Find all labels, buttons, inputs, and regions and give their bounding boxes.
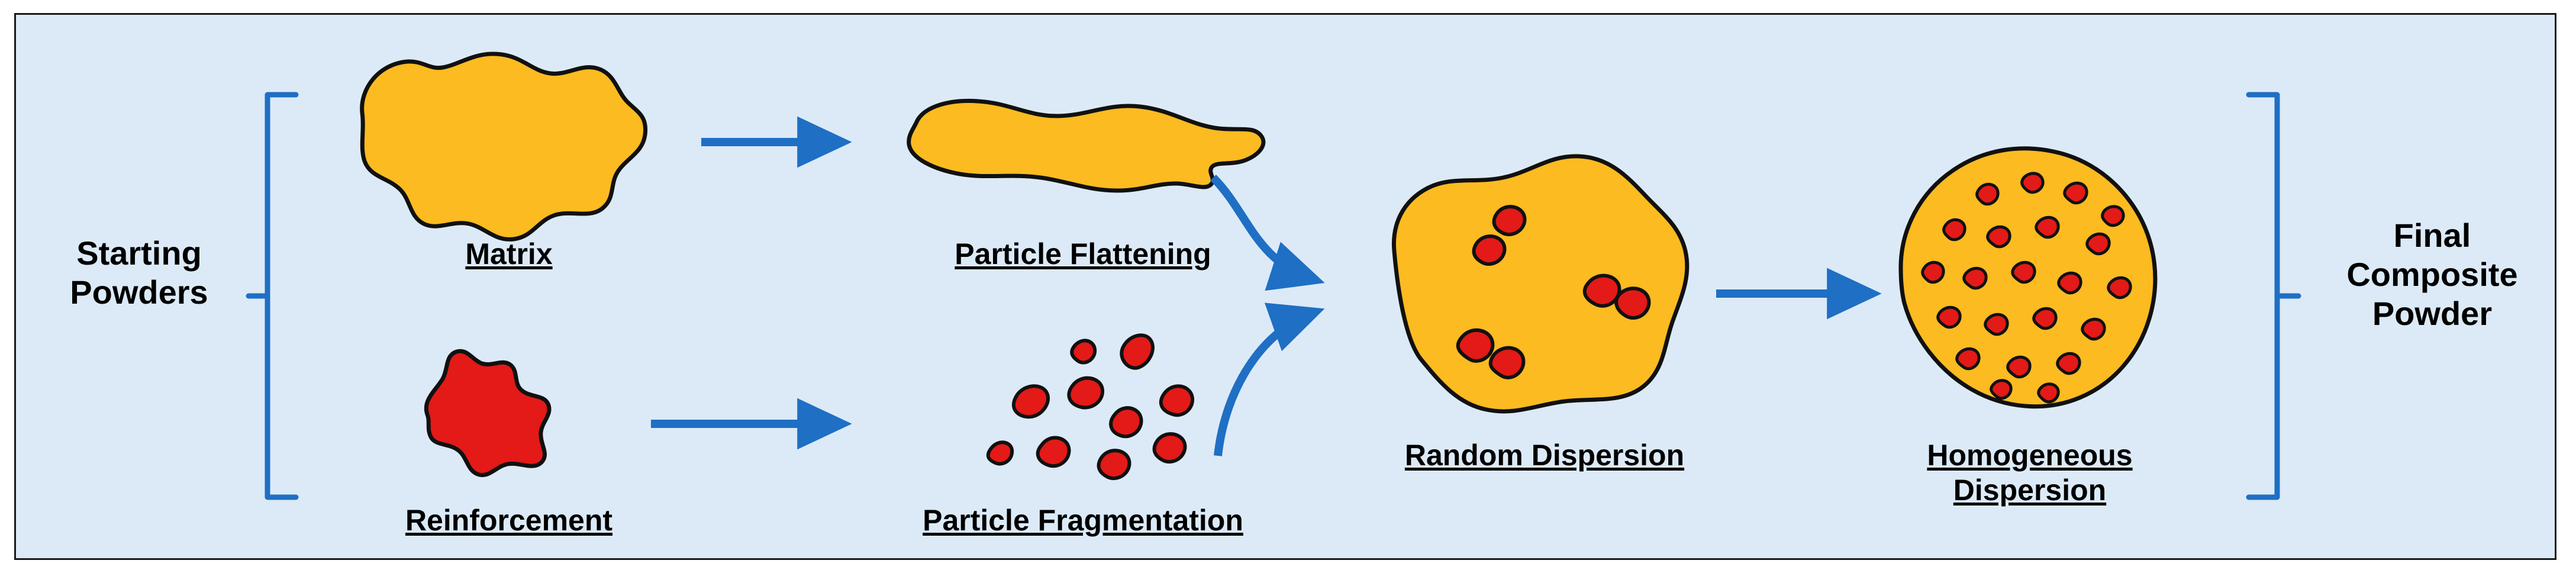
label-particle-flattening: Particle Flattening xyxy=(888,237,1278,272)
arrow-fragmentation-to-dispersion xyxy=(1218,313,1314,456)
label-particle-fragmentation: Particle Fragmentation xyxy=(858,503,1308,538)
fragmented-reinforcement-shapes xyxy=(988,335,1192,478)
label-random-dispersion: Random Dispersion xyxy=(1379,438,1710,473)
label-starting-powders: Starting Powders xyxy=(36,234,243,312)
reinforcement-particle-shape xyxy=(426,351,549,475)
diagram-canvas: Starting Powders Matrix Reinforcement Pa… xyxy=(0,0,2576,586)
label-reinforcement: Reinforcement xyxy=(337,503,681,538)
bracket-starting-powders xyxy=(249,95,296,497)
bracket-final-composite xyxy=(2249,95,2298,497)
random-dispersion-shape xyxy=(1394,156,1687,411)
matrix-particle-shape xyxy=(362,54,646,239)
homogeneous-dispersion-shape xyxy=(1901,149,2155,407)
label-matrix: Matrix xyxy=(408,237,610,272)
flattened-matrix-shape xyxy=(909,101,1263,191)
label-homogeneous-dispersion: Homogeneous Dispersion xyxy=(1864,438,2195,508)
label-final-composite-powder: Final Composite Powder xyxy=(2314,216,2551,333)
